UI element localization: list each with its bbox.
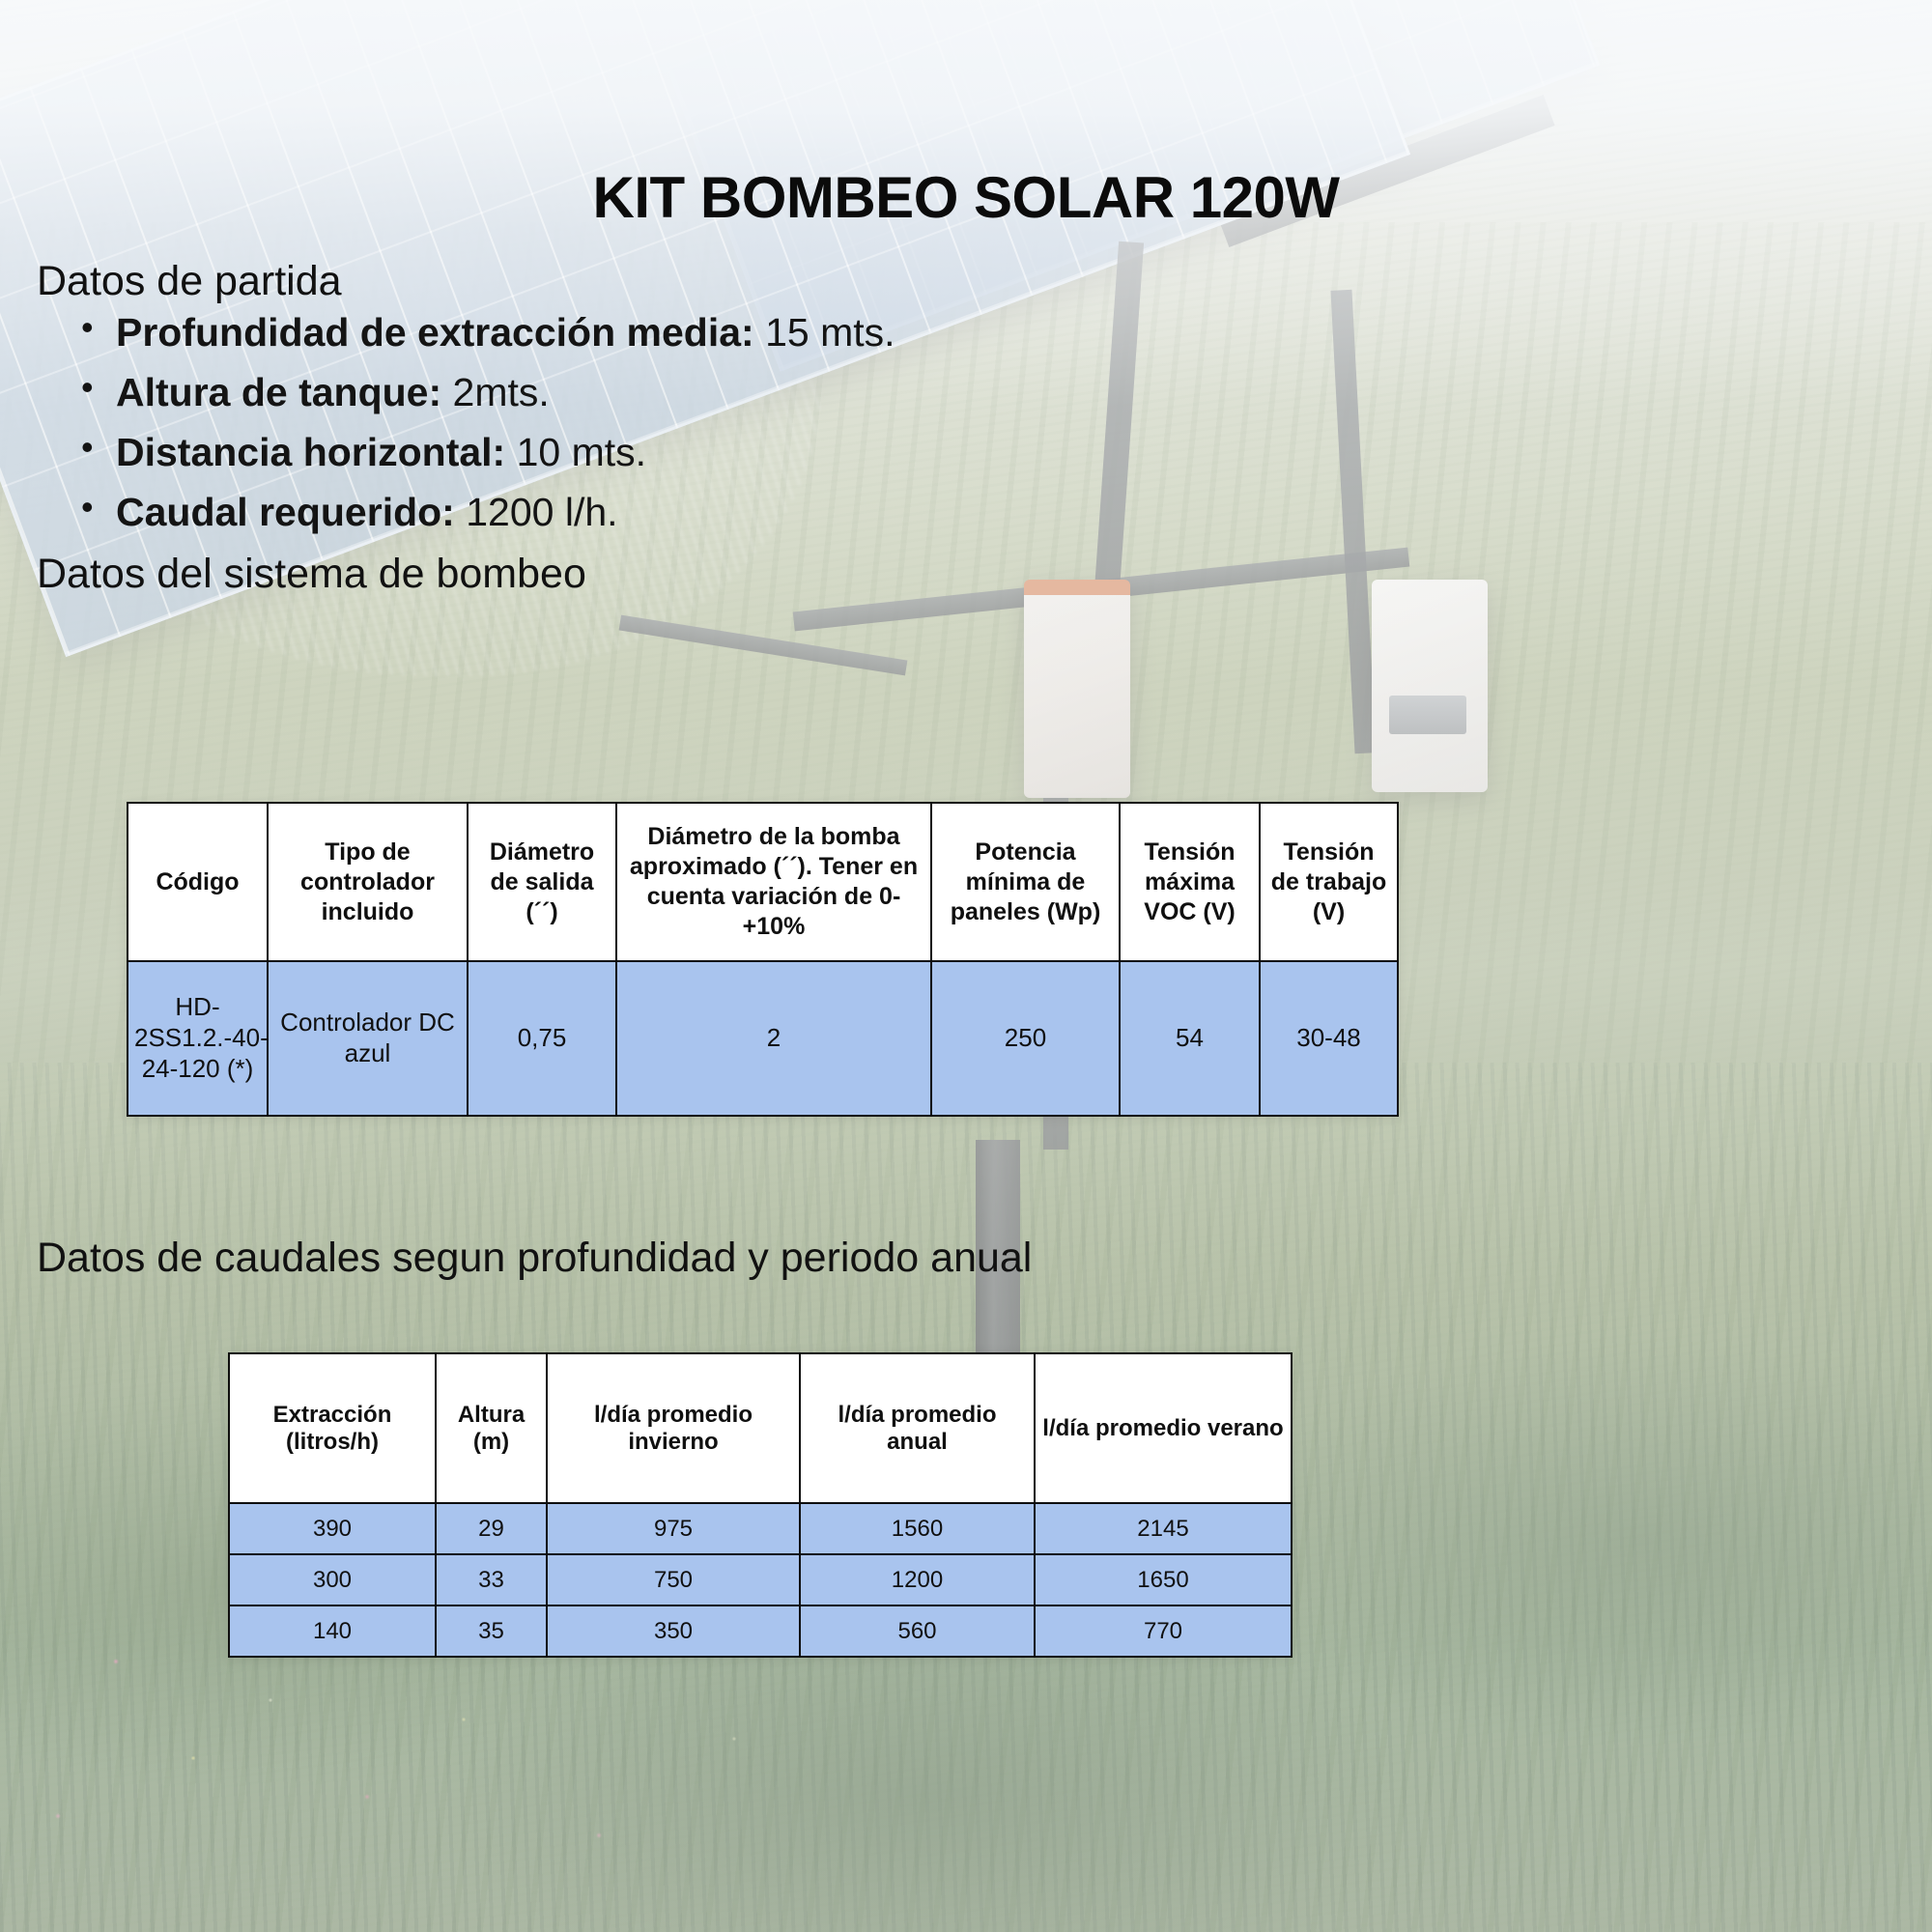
bullet-value: 2mts.	[453, 370, 550, 414]
table-header-row: Extracción (litros/h) Altura (m) l/día p…	[229, 1353, 1292, 1503]
table-header-row: Código Tipo de controlador incluido Diám…	[128, 803, 1398, 961]
cell-promedio-invierno: 975	[547, 1503, 800, 1554]
column-header-tipo-controlador: Tipo de controlador incluido	[268, 803, 468, 961]
table-row: HD-2SS1.2.-40-24-120 (*) Controlador DC …	[128, 961, 1398, 1116]
bullet-value: 10 mts.	[517, 430, 646, 474]
column-header-altura: Altura (m)	[436, 1353, 547, 1503]
list-item: Distancia horizontal: 10 mts.	[116, 433, 895, 472]
cell-promedio-anual: 1560	[800, 1503, 1035, 1554]
bullet-value: 1200 l/h.	[466, 490, 617, 534]
page-title: KIT BOMBEO SOLAR 120W	[0, 164, 1932, 231]
column-header-promedio-verano: l/día promedio verano	[1035, 1353, 1292, 1503]
section-heading-datos-partida: Datos de partida	[37, 258, 342, 305]
cell-altura: 33	[436, 1554, 547, 1605]
cell-promedio-verano: 1650	[1035, 1554, 1292, 1605]
column-header-diametro-bomba: Diámetro de la bomba aproximado (´´). Te…	[616, 803, 931, 961]
bullet-label: Altura de tanque:	[116, 370, 441, 414]
section-heading-datos-caudales: Datos de caudales segun profundidad y pe…	[37, 1235, 1032, 1282]
table-row: 140 35 350 560 770	[229, 1605, 1292, 1657]
list-item: Altura de tanque: 2mts.	[116, 373, 895, 412]
list-item: Caudal requerido: 1200 l/h.	[116, 493, 895, 532]
bullet-label: Profundidad de extracción media:	[116, 310, 754, 355]
cell-potencia-paneles: 250	[931, 961, 1120, 1116]
column-header-tension-voc: Tensión máxima VOC (V)	[1120, 803, 1260, 961]
bullet-value: 15 mts.	[765, 310, 895, 355]
cell-promedio-invierno: 350	[547, 1605, 800, 1657]
bullet-label: Caudal requerido:	[116, 490, 455, 534]
cell-promedio-invierno: 750	[547, 1554, 800, 1605]
cell-codigo: HD-2SS1.2.-40-24-120 (*)	[128, 961, 268, 1116]
datos-partida-list: Profundidad de extracción media: 15 mts.…	[75, 313, 895, 553]
cell-diametro-bomba: 2	[616, 961, 931, 1116]
cell-extraccion: 300	[229, 1554, 436, 1605]
bullet-label: Distancia horizontal:	[116, 430, 505, 474]
datos-caudales-table: Extracción (litros/h) Altura (m) l/día p…	[228, 1352, 1293, 1658]
cell-altura: 35	[436, 1605, 547, 1657]
poster-canvas: KIT BOMBEO SOLAR 120W Datos de partida P…	[0, 0, 1932, 1932]
column-header-diametro-salida: Diámetro de salida (´´)	[468, 803, 616, 961]
cell-diametro-salida: 0,75	[468, 961, 616, 1116]
column-header-codigo: Código	[128, 803, 268, 961]
cell-tension-voc: 54	[1120, 961, 1260, 1116]
section-heading-datos-sistema: Datos del sistema de bombeo	[37, 551, 586, 598]
cell-extraccion: 390	[229, 1503, 436, 1554]
column-header-promedio-invierno: l/día promedio invierno	[547, 1353, 800, 1503]
cell-tension-trabajo: 30-48	[1260, 961, 1398, 1116]
cell-extraccion: 140	[229, 1605, 436, 1657]
table-row: 390 29 975 1560 2145	[229, 1503, 1292, 1554]
cell-tipo-controlador: Controlador DC azul	[268, 961, 468, 1116]
cell-promedio-verano: 2145	[1035, 1503, 1292, 1554]
list-item: Profundidad de extracción media: 15 mts.	[116, 313, 895, 353]
table-row: 300 33 750 1200 1650	[229, 1554, 1292, 1605]
datos-sistema-table: Código Tipo de controlador incluido Diám…	[127, 802, 1399, 1117]
cell-promedio-verano: 770	[1035, 1605, 1292, 1657]
cell-promedio-anual: 1200	[800, 1554, 1035, 1605]
column-header-promedio-anual: l/día promedio anual	[800, 1353, 1035, 1503]
cell-altura: 29	[436, 1503, 547, 1554]
cell-promedio-anual: 560	[800, 1605, 1035, 1657]
column-header-tension-trabajo: Tensión de trabajo (V)	[1260, 803, 1398, 961]
column-header-potencia-paneles: Potencia mínima de paneles (Wp)	[931, 803, 1120, 961]
column-header-extraccion: Extracción (litros/h)	[229, 1353, 436, 1503]
